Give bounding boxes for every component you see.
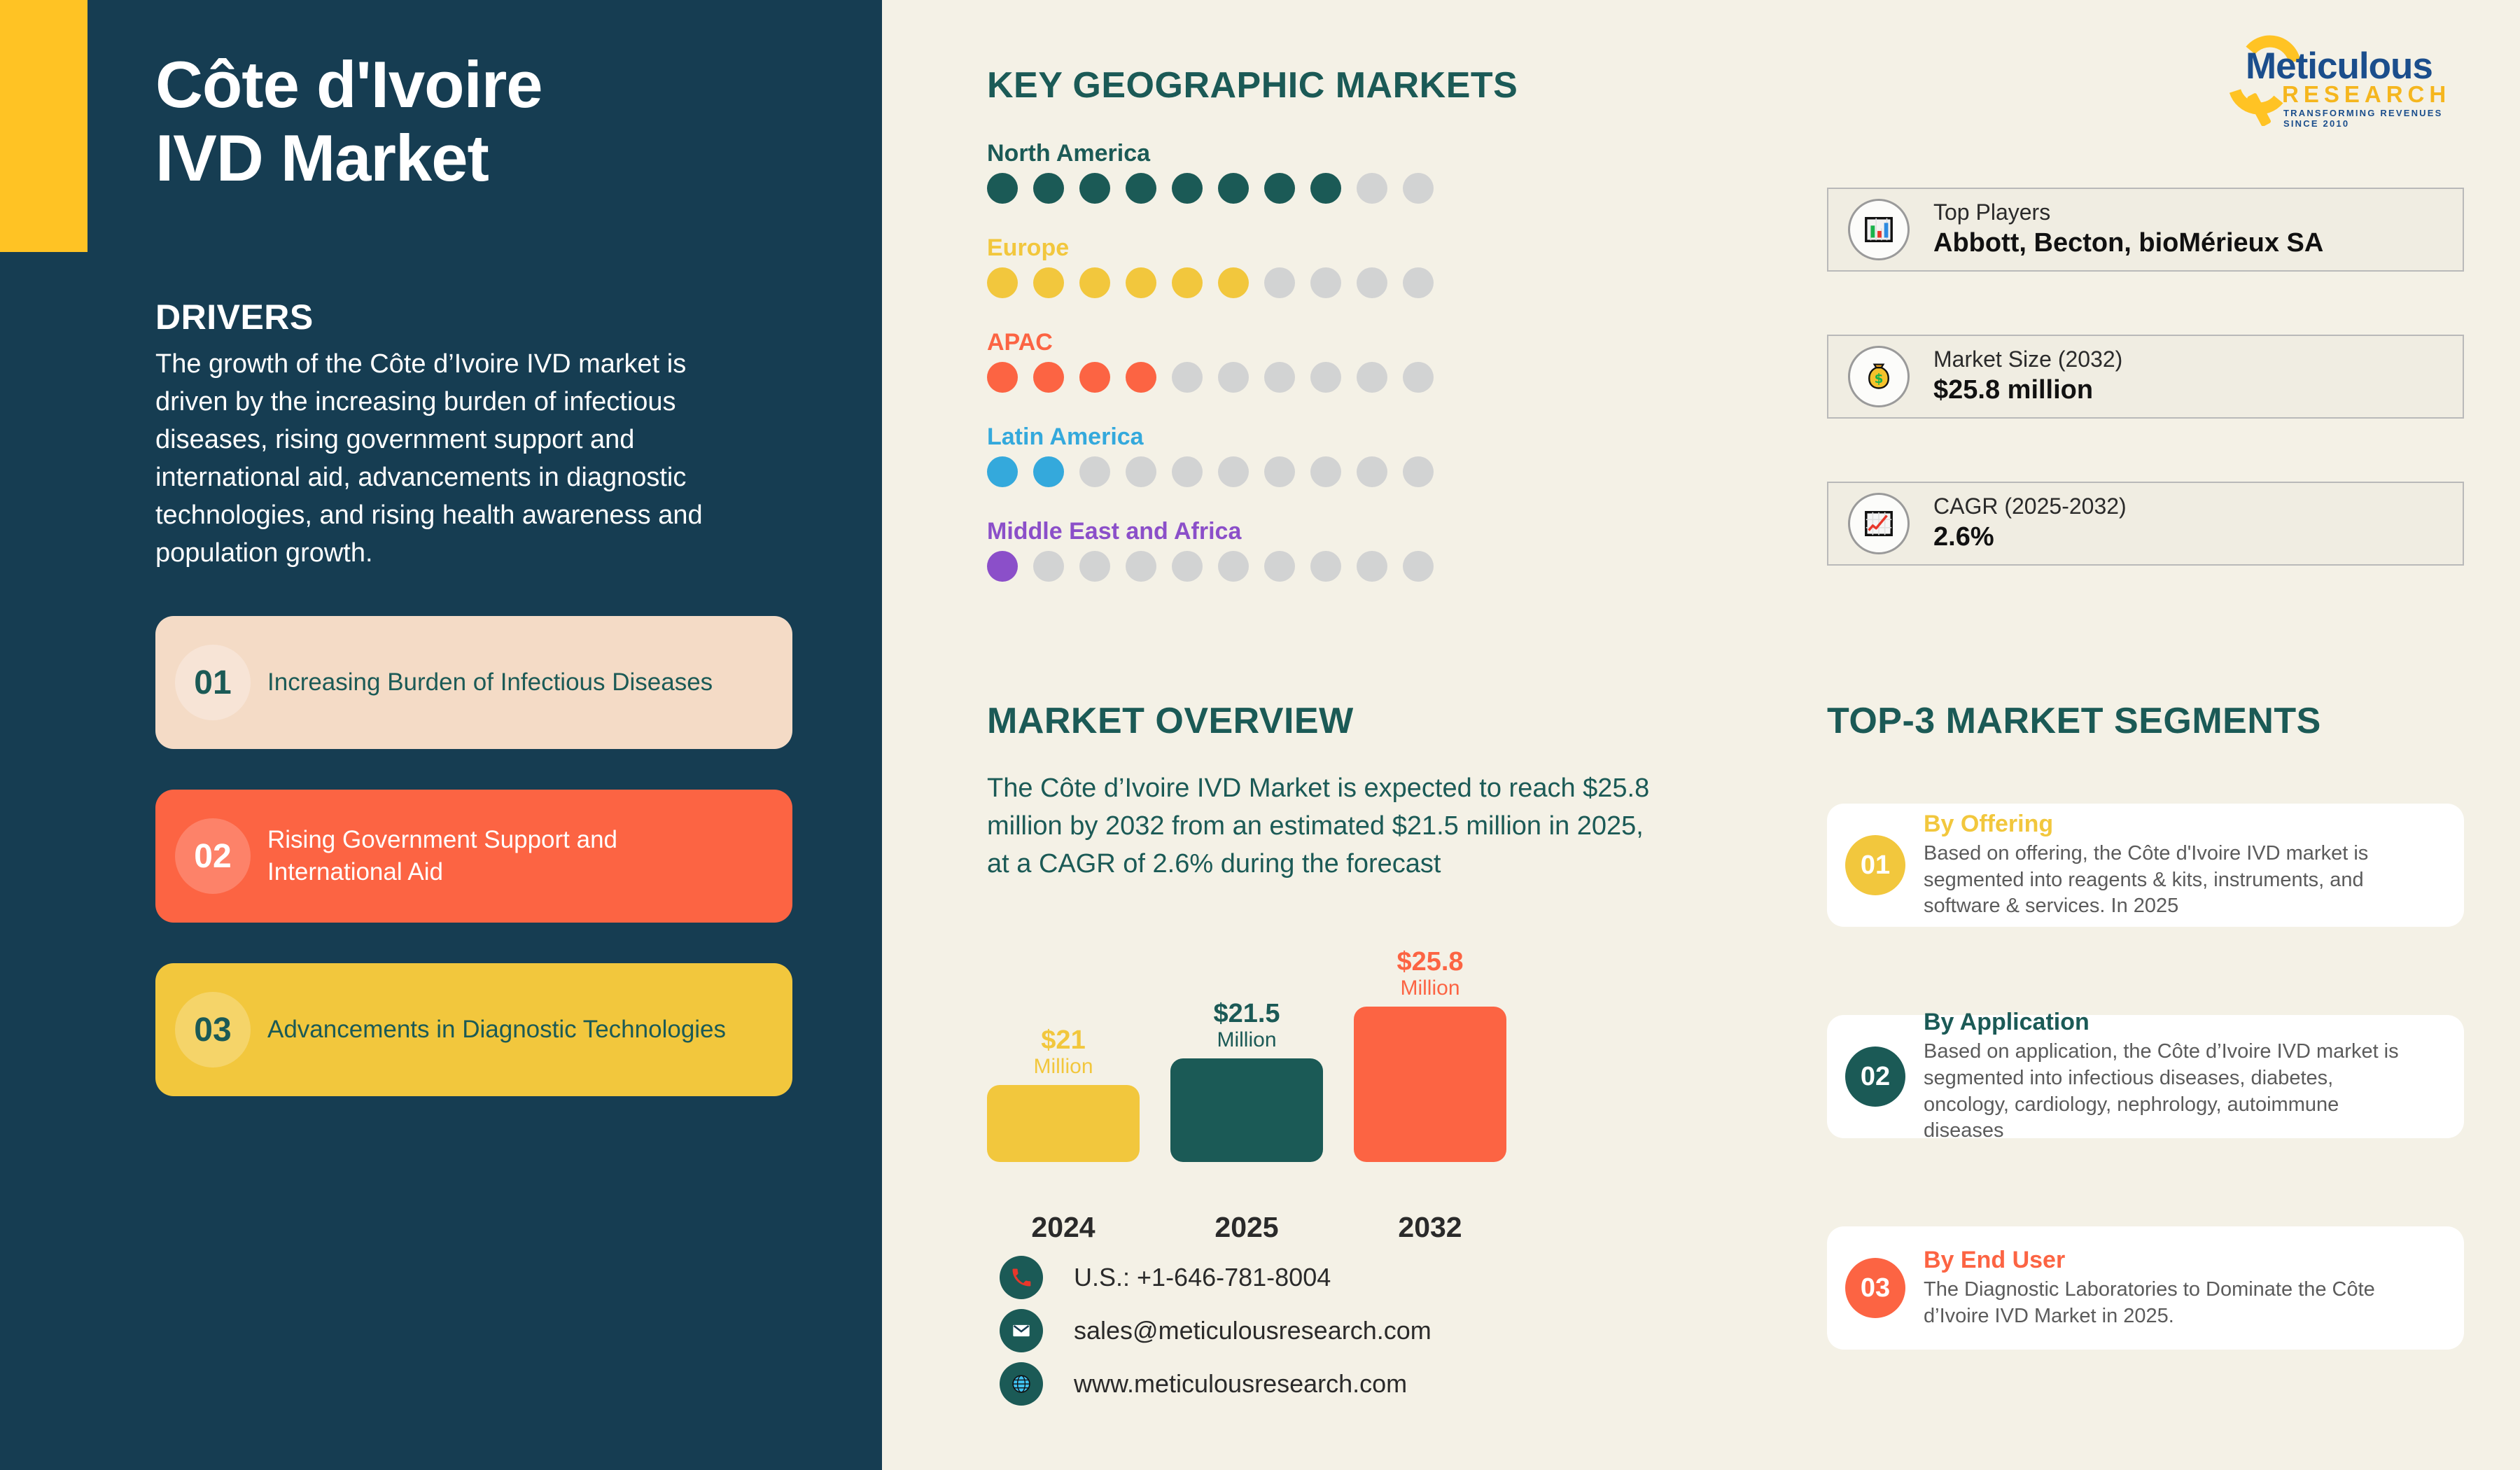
geo-dot-empty [1218, 551, 1249, 582]
driver-card-1[interactable]: 01 Increasing Burden of Infectious Disea… [155, 616, 792, 749]
geo-dot-filled [1126, 362, 1156, 393]
stat-text-cagr: CAGR (2025-2032) 2.6% [1933, 492, 2127, 554]
contact-phone-text: U.S.: +1-646-781-8004 [1074, 1263, 1331, 1292]
geo-dot-empty [1357, 551, 1387, 582]
bar-unit-2032: Million [1354, 975, 1506, 1002]
geo-dot-filled [987, 551, 1018, 582]
bar-rect-2032 [1354, 1007, 1506, 1162]
geo-dot-empty [1218, 362, 1249, 393]
segment-number-1: 01 [1845, 835, 1905, 895]
bar-chart-x-axis: 2024 2025 2032 [987, 1211, 1561, 1246]
segment-body-3: By End User The Diagnostic Laboratories … [1924, 1247, 2407, 1329]
geo-dot-empty [1310, 551, 1341, 582]
segment-body-1: By Offering Based on offering, the Côte … [1924, 811, 2407, 920]
geo-dot-filled [987, 173, 1018, 204]
geo-dot-empty [1403, 551, 1434, 582]
driver-number-2: 02 [175, 818, 251, 894]
page-title-line-2: IVD Market [155, 121, 820, 195]
geographic-markets-title: KEY GEOGRAPHIC MARKETS [987, 64, 1518, 106]
stat-label-market-size: Market Size (2032) [1933, 345, 2122, 373]
geo-dot-filled [1218, 267, 1249, 298]
geo-dot-filled [987, 267, 1018, 298]
geo-dot-empty [1310, 456, 1341, 487]
driver-label-2: Rising Government Support and Internatio… [267, 824, 757, 888]
segment-description-3: The Diagnostic Laboratories to Dominate … [1924, 1277, 2407, 1329]
market-overview-title: MARKET OVERVIEW [987, 700, 1354, 742]
geo-dot-filled [1172, 267, 1203, 298]
bar-unit-2025: Million [1170, 1027, 1323, 1053]
geo-dot-empty [1357, 173, 1387, 204]
geo-dot-empty [1264, 551, 1295, 582]
geo-dots-apac [987, 362, 1519, 393]
geo-dot-empty [1310, 362, 1341, 393]
geo-dot-filled [1079, 362, 1110, 393]
driver-card-2[interactable]: 02 Rising Government Support and Interna… [155, 790, 792, 923]
geo-dot-filled [1172, 173, 1203, 204]
market-size-bar-chart: $21 Million $21.5 Million $25.8 Million [987, 952, 1561, 1162]
logo-tagline: TRANSFORMING REVENUES SINCE 2010 [2283, 108, 2478, 129]
segment-heading-2: By Application [1924, 1009, 2407, 1036]
market-segments-title: TOP-3 MARKET SEGMENTS [1827, 700, 2321, 742]
geo-dot-empty [1264, 362, 1295, 393]
logo-subwordmark: RESEARCH [2282, 81, 2451, 108]
geo-dots-middle-east-africa [987, 551, 1519, 582]
segment-number-2: 02 [1845, 1046, 1905, 1107]
geo-dot-filled [1218, 173, 1249, 204]
x-tick-2024: 2024 [987, 1211, 1140, 1244]
geo-dot-filled [1079, 267, 1110, 298]
driver-label-3: Advancements in Diagnostic Technologies [267, 1014, 757, 1046]
stat-value-market-size: $25.8 million [1933, 373, 2122, 407]
geo-dot-empty [1264, 456, 1295, 487]
geo-dot-empty [1403, 456, 1434, 487]
stat-text-top-players: Top Players Abbott, Becton, bioMérieux S… [1933, 198, 2323, 260]
stat-label-top-players: Top Players [1933, 198, 2323, 226]
segment-body-2: By Application Based on application, the… [1924, 1009, 2407, 1144]
geo-label-europe: Europe [987, 234, 1519, 262]
geo-row-north-america: North America [987, 140, 1519, 204]
geo-dots-latin-america [987, 456, 1519, 487]
bar-column-2025: $21.5 Million [1170, 1000, 1323, 1163]
stat-value-cagr: 2.6% [1933, 520, 2127, 554]
drivers-body-text: The growth of the Côte d’Ivoire IVD mark… [155, 346, 757, 573]
page-title-line-1: Côte d'Ivoire [155, 48, 820, 121]
geo-dots-europe [987, 267, 1519, 298]
geo-dot-empty [1403, 362, 1434, 393]
email-icon [1000, 1309, 1043, 1352]
contact-email[interactable]: sales@meticulousresearch.com [1000, 1309, 1431, 1352]
geo-dot-filled [1264, 173, 1295, 204]
bar-column-2032: $25.8 Million [1354, 948, 1506, 1163]
x-tick-2032: 2032 [1354, 1211, 1506, 1244]
geo-dot-empty [1310, 267, 1341, 298]
stat-label-cagr: CAGR (2025-2032) [1933, 492, 2127, 520]
segment-card-1[interactable]: 01 By Offering Based on offering, the Cô… [1827, 804, 2464, 927]
geo-dot-filled [1033, 362, 1064, 393]
geo-dot-filled [1310, 173, 1341, 204]
bar-chart-icon [1848, 199, 1910, 260]
geo-dot-filled [1033, 267, 1064, 298]
stat-box-top-players: Top Players Abbott, Becton, bioMérieux S… [1827, 188, 2464, 272]
geo-row-apac: APAC [987, 329, 1519, 393]
geo-label-apac: APAC [987, 329, 1519, 356]
stat-box-market-size: $ Market Size (2032) $25.8 million [1827, 335, 2464, 419]
geo-dot-empty [1172, 551, 1203, 582]
geo-dot-empty [1357, 362, 1387, 393]
segment-number-3: 03 [1845, 1258, 1905, 1318]
geo-dot-empty [1172, 456, 1203, 487]
geo-dot-filled [987, 456, 1018, 487]
accent-bar [0, 0, 87, 252]
driver-card-3[interactable]: 03 Advancements in Diagnostic Technologi… [155, 963, 792, 1096]
geo-dot-filled [1126, 267, 1156, 298]
geo-dot-filled [987, 362, 1018, 393]
page-title: Côte d'Ivoire IVD Market [155, 48, 820, 195]
geo-dot-empty [1357, 456, 1387, 487]
stat-text-market-size: Market Size (2032) $25.8 million [1933, 345, 2122, 407]
geo-label-latin-america: Latin America [987, 423, 1519, 451]
svg-text:$: $ [1875, 372, 1884, 386]
driver-label-1: Increasing Burden of Infectious Diseases [267, 666, 757, 699]
geo-dot-filled [1033, 456, 1064, 487]
geo-dot-empty [1126, 456, 1156, 487]
geo-dot-filled [1033, 173, 1064, 204]
segment-description-2: Based on application, the Côte d’Ivoire … [1924, 1039, 2407, 1144]
contact-phone[interactable]: U.S.: +1-646-781-8004 [1000, 1256, 1331, 1299]
stat-box-cagr: CAGR (2025-2032) 2.6% [1827, 482, 2464, 566]
geo-dot-empty [1172, 362, 1203, 393]
geo-dot-empty [1033, 551, 1064, 582]
phone-icon [1000, 1256, 1043, 1299]
line-chart-icon [1848, 493, 1910, 554]
contact-website-text: www.meticulousresearch.com [1074, 1369, 1407, 1399]
bar-rect-2025 [1170, 1058, 1323, 1162]
geo-row-europe: Europe [987, 234, 1519, 298]
bar-unit-2024: Million [987, 1053, 1140, 1080]
segment-card-2[interactable]: 02 By Application Based on application, … [1827, 1015, 2464, 1138]
geo-dot-empty [1218, 456, 1249, 487]
contact-email-text: sales@meticulousresearch.com [1074, 1316, 1431, 1345]
bar-value-2024: $21 [987, 1027, 1140, 1053]
geo-label-middle-east-africa: Middle East and Africa [987, 518, 1519, 545]
bar-value-2025: $21.5 [1170, 1000, 1323, 1027]
geo-row-middle-east-africa: Middle East and Africa [987, 518, 1519, 582]
segment-card-3[interactable]: 03 By End User The Diagnostic Laboratori… [1827, 1226, 2464, 1350]
geo-dot-empty [1264, 267, 1295, 298]
segment-heading-1: By Offering [1924, 811, 2407, 838]
segment-description-1: Based on offering, the Côte d'Ivoire IVD… [1924, 841, 2407, 920]
globe-icon [1000, 1362, 1043, 1406]
driver-number-1: 01 [175, 645, 251, 720]
contact-website[interactable]: www.meticulousresearch.com [1000, 1362, 1407, 1406]
geo-dot-empty [1126, 551, 1156, 582]
geo-dot-filled [1126, 173, 1156, 204]
x-tick-2025: 2025 [1170, 1211, 1323, 1244]
geo-row-latin-america: Latin America [987, 423, 1519, 487]
geo-dot-empty [1079, 456, 1110, 487]
money-bag-icon: $ [1848, 346, 1910, 407]
geo-dot-empty [1403, 173, 1434, 204]
geo-dot-empty [1357, 267, 1387, 298]
geo-dot-empty [1403, 267, 1434, 298]
geo-dot-filled [1079, 173, 1110, 204]
bar-rect-2024 [987, 1085, 1140, 1162]
geo-label-north-america: North America [987, 140, 1519, 167]
bar-column-2024: $21 Million [987, 1027, 1140, 1163]
segment-heading-3: By End User [1924, 1247, 2407, 1274]
geo-dots-north-america [987, 173, 1519, 204]
meticulous-research-logo: Meticulous RESEARCH TRANSFORMING REVENUE… [2212, 35, 2478, 126]
geo-dot-empty [1079, 551, 1110, 582]
market-overview-body: The Côte d’Ivoire IVD Market is expected… [987, 770, 1652, 883]
drivers-heading: DRIVERS [155, 297, 314, 337]
driver-number-3: 03 [175, 992, 251, 1067]
bar-value-2032: $25.8 [1354, 948, 1506, 975]
stat-value-top-players: Abbott, Becton, bioMérieux SA [1933, 226, 2323, 260]
